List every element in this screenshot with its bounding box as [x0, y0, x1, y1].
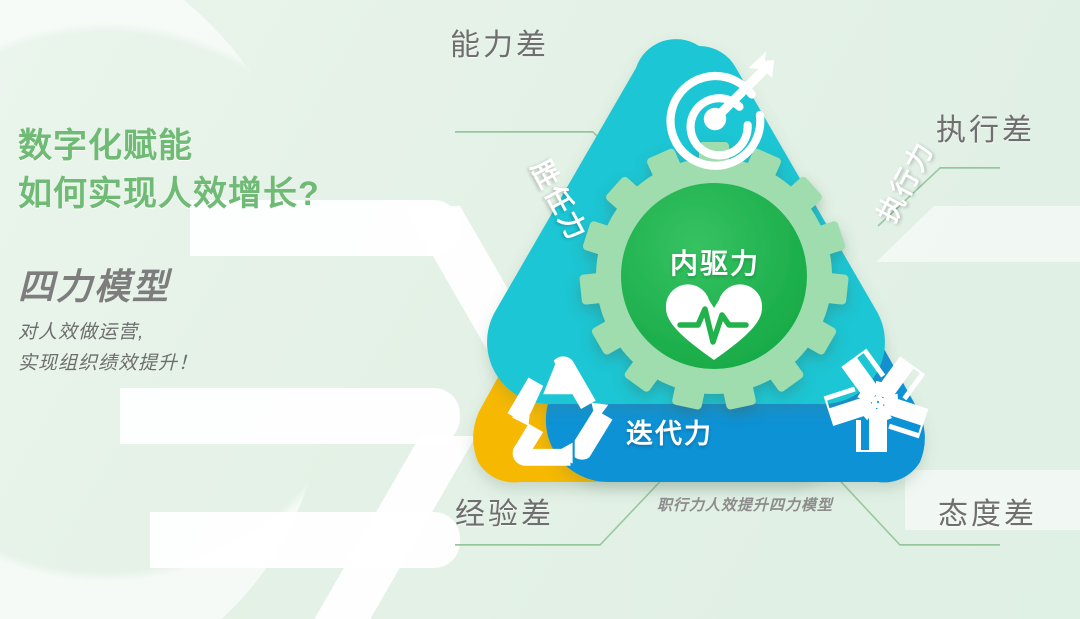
sub-description-line-1: 对人效做运营, — [18, 318, 438, 349]
headline-line-1: 数字化赋能 — [18, 122, 438, 170]
core-label: 内驱力 — [430, 242, 1000, 282]
rule-experience — [455, 544, 600, 545]
four-force-model: 胜任力 执行力 迭代力 内驱力 职行力人效提升四力模型 — [430, 14, 1000, 534]
sub-description: 对人效做运营, 实现组织绩效提升！ — [18, 318, 438, 380]
left-text-panel: 数字化赋能 如何实现人效增长? 四力模型 对人效做运营, 实现组织绩效提升！ — [18, 122, 438, 380]
petal-label-iteration: 迭代力 — [626, 412, 713, 451]
headline: 数字化赋能 如何实现人效增长? — [18, 122, 438, 219]
rule-attitude — [900, 544, 1000, 545]
background-bar-mid — [120, 388, 460, 444]
rule-execution — [940, 167, 1000, 168]
model-caption: 职行力人效提升四力模型 — [580, 494, 910, 515]
headline-line-2: 如何实现人效增长? — [18, 170, 438, 218]
sub-description-line-2: 实现组织绩效提升！ — [18, 349, 438, 380]
poster-canvas: 数字化赋能 如何实现人效增长? 四力模型 对人效做运营, 实现组织绩效提升！ 能… — [0, 0, 1080, 619]
rule-ability — [455, 131, 593, 132]
sub-title: 四力模型 — [18, 267, 438, 307]
